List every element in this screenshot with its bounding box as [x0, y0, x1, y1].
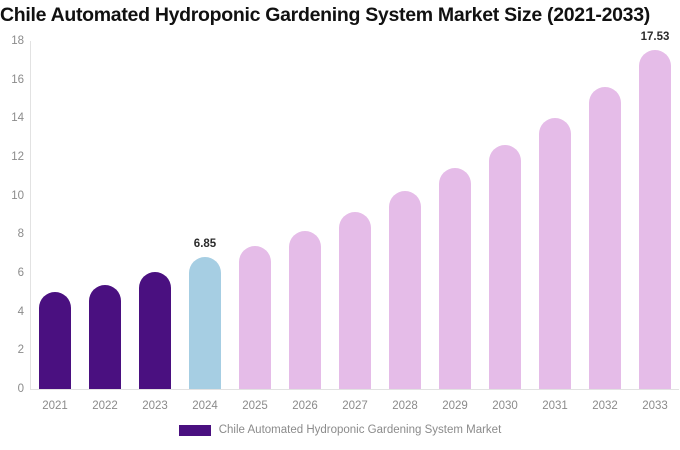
bar[interactable]: [589, 87, 621, 389]
x-axis-tick-label: 2030: [492, 400, 518, 412]
bar[interactable]: [439, 168, 471, 389]
plot-area: 024681012141618 202120222023202420252026…: [30, 41, 679, 390]
page-title: Chile Automated Hydroponic Gardening Sys…: [0, 2, 680, 28]
bar[interactable]: [639, 50, 671, 389]
bar[interactable]: [89, 285, 121, 389]
x-axis-tick-label: 2026: [292, 400, 318, 412]
y-axis-tick-label: 2: [18, 344, 24, 356]
bar[interactable]: [289, 231, 321, 389]
bar-value-label: 6.85: [194, 238, 216, 250]
bar[interactable]: [389, 191, 421, 389]
bar-value-label: 17.53: [641, 31, 670, 43]
y-axis-tick-label: 4: [18, 306, 24, 318]
bar[interactable]: [539, 118, 571, 389]
y-axis-tick-label: 0: [18, 383, 24, 395]
y-axis-tick-label: 14: [11, 112, 24, 124]
x-axis-tick-label: 2024: [192, 400, 218, 412]
x-axis-tick-label: 2032: [592, 400, 618, 412]
bar[interactable]: [139, 272, 171, 389]
y-axis-tick-label: 18: [11, 35, 24, 47]
y-axis-tick-label: 8: [18, 228, 24, 240]
legend-item-label: Chile Automated Hydroponic Gardening Sys…: [219, 424, 502, 436]
legend-swatch-icon: [179, 425, 211, 436]
x-axis-tick-label: 2031: [542, 400, 568, 412]
x-axis-tick-label: 2022: [92, 400, 118, 412]
x-axis-tick-label: 2025: [242, 400, 268, 412]
bar[interactable]: [39, 292, 71, 389]
y-axis-tick-label: 10: [11, 190, 24, 202]
bar[interactable]: [189, 257, 221, 389]
x-axis-tick-label: 2027: [342, 400, 368, 412]
y-axis-tick-label: 16: [11, 74, 24, 86]
bar[interactable]: [339, 212, 371, 389]
y-axis-tick-label: 12: [11, 151, 24, 163]
x-axis-tick-label: 2028: [392, 400, 418, 412]
chart-container: Chile Automated Hydroponic Gardening Sys…: [0, 0, 680, 450]
x-axis-tick-label: 2023: [142, 400, 168, 412]
x-axis-tick-label: 2033: [642, 400, 668, 412]
y-axis-tick-label: 6: [18, 267, 24, 279]
x-axis-tick-label: 2021: [42, 400, 68, 412]
legend: Chile Automated Hydroponic Gardening Sys…: [0, 424, 680, 436]
bar[interactable]: [489, 145, 521, 389]
bar[interactable]: [239, 246, 271, 389]
x-axis-tick-label: 2029: [442, 400, 468, 412]
